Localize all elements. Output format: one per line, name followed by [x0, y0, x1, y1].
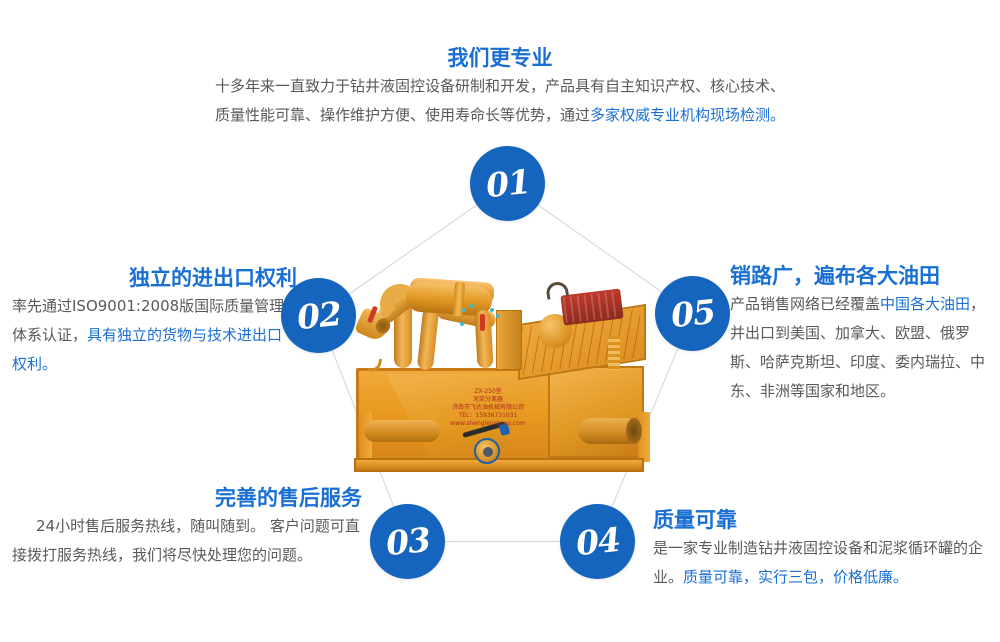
feature-05-body-plain1: 产品销售网络已经覆盖: [730, 295, 880, 313]
step-badge-03-label: 03: [384, 520, 432, 563]
feature-01-body: 十多年来一直致力于钻井液固控设备研制和开发，产品具有自主知识产权、核心技术、 质…: [150, 72, 850, 130]
feature-02-body: 率先通过ISO9001:2008版国际质量管理体系认证，具有独立的货物与技术进出…: [12, 292, 297, 379]
feature-block-02: 独立的进出口权利 率先通过ISO9001:2008版国际质量管理体系认证，具有独…: [12, 264, 297, 379]
feature-01-body-highlight: 多家权威专业机构现场检测。: [590, 106, 785, 124]
step-badge-04[interactable]: 04: [560, 504, 635, 579]
feature-block-01: 我们更专业 十多年来一直致力于钻井液固控设备研制和开发，产品具有自主知识产权、核…: [150, 44, 850, 130]
product-photo-drilling-mud-separator: ZX-250型 泥浆分离器 济南市飞达油机械有限公司 TEL：159367310…: [350, 262, 660, 480]
feature-block-04: 质量可靠 是一家专业制造钻井液固控设备和泥浆循环罐的企业。质量可靠，实行三包，价…: [653, 506, 993, 592]
step-badge-03[interactable]: 03: [370, 504, 445, 579]
step-badge-04-label: 04: [574, 520, 622, 563]
feature-03-title: 完善的售后服务: [12, 484, 362, 512]
feature-05-body-highlight: 中国各大油田: [880, 295, 970, 313]
step-badge-02[interactable]: 02: [281, 278, 356, 353]
feature-block-03: 完善的售后服务 24小时售后服务热线，随叫随到。 客户问题可直接拨打服务热线，我…: [12, 484, 362, 570]
feature-01-title: 我们更专业: [150, 44, 850, 72]
feature-01-body-line2: 质量性能可靠、操作维护方便、使用寿命长等优势，通过: [215, 106, 590, 124]
feature-04-body-highlight: 质量可靠，实行三包，价格低廉。: [683, 568, 908, 586]
infographic-page: ZX-250型 泥浆分离器 济南市飞达油机械有限公司 TEL：159367310…: [0, 0, 1000, 642]
feature-02-title: 独立的进出口权利: [12, 264, 297, 292]
feature-03-body: 24小时售后服务热线，随叫随到。 客户问题可直接拨打服务热线，我们将尽快处理您的…: [12, 512, 362, 570]
feature-05-body: 产品销售网络已经覆盖中国各大油田，并出口到美国、加拿大、欧盟、俄罗斯、哈萨克斯坦…: [730, 290, 992, 406]
feature-05-title: 销路广，遍布各大油田: [730, 262, 992, 290]
step-badge-05-label: 05: [669, 292, 717, 335]
machine-nameplate-text: ZX-250型 泥浆分离器 济南市飞达油机械有限公司 TEL：159367310…: [428, 388, 548, 428]
step-badge-01[interactable]: 01: [470, 146, 545, 221]
feature-block-05: 销路广，遍布各大油田 产品销售网络已经覆盖中国各大油田，并出口到美国、加拿大、欧…: [730, 262, 992, 406]
feature-04-body: 是一家专业制造钻井液固控设备和泥浆循环罐的企业。质量可靠，实行三包，价格低廉。: [653, 534, 993, 592]
step-badge-02-label: 02: [295, 294, 343, 337]
feature-01-body-line1: 十多年来一直致力于钻井液固控设备研制和开发，产品具有自主知识产权、核心技术、: [215, 77, 785, 95]
step-badge-05[interactable]: 05: [655, 276, 730, 351]
feature-04-title: 质量可靠: [653, 506, 993, 534]
step-badge-01-label: 01: [484, 162, 532, 205]
